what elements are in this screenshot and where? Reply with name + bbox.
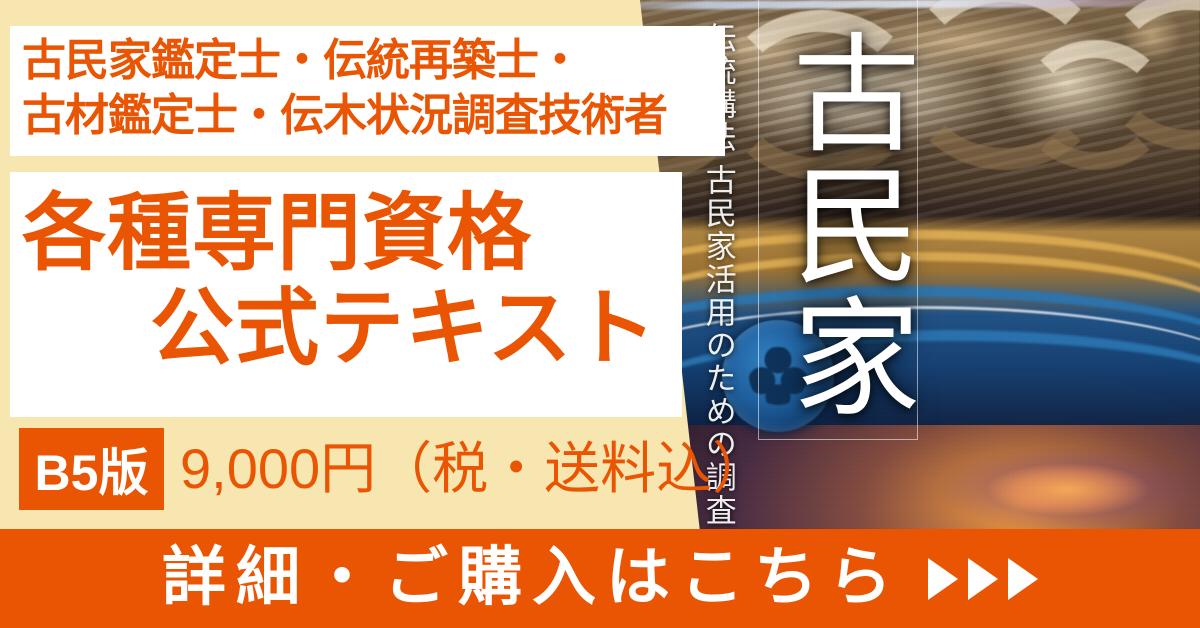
cta-bar[interactable]: 詳細・ご購入はこちら bbox=[0, 529, 1200, 628]
qualifications-heading: 古民家鑑定士・伝統再築士・ 古材鑑定士・伝木状況調査技術者 bbox=[22, 33, 722, 144]
product-title: 各種専門資格 公式テキスト bbox=[0, 186, 672, 378]
product-title-line-2: 公式テキスト bbox=[0, 280, 672, 377]
triangle-right-icon bbox=[968, 558, 998, 600]
qualifications-line-1: 古民家鑑定士・伝統再築士・ bbox=[22, 33, 722, 88]
qualifications-line-2: 古材鑑定士・伝木状況調査技術者 bbox=[22, 88, 722, 143]
format-badge: B5版 bbox=[19, 428, 164, 510]
cover-main-title: 古民家 bbox=[763, 10, 913, 440]
promo-banner: 古民家 伝統構法 古民家活用のための調査と再生の 古民家鑑定士・伝統再築士・ 古… bbox=[0, 0, 1200, 628]
cta-arrow-group bbox=[928, 558, 1038, 600]
triangle-right-icon bbox=[928, 558, 958, 600]
product-title-line-1: 各種専門資格 bbox=[0, 186, 672, 280]
price-text: 9,000円（税・送料込） bbox=[180, 432, 768, 506]
triangle-right-icon bbox=[1008, 558, 1038, 600]
cta-label: 詳細・ご購入はこちら bbox=[162, 545, 902, 609]
